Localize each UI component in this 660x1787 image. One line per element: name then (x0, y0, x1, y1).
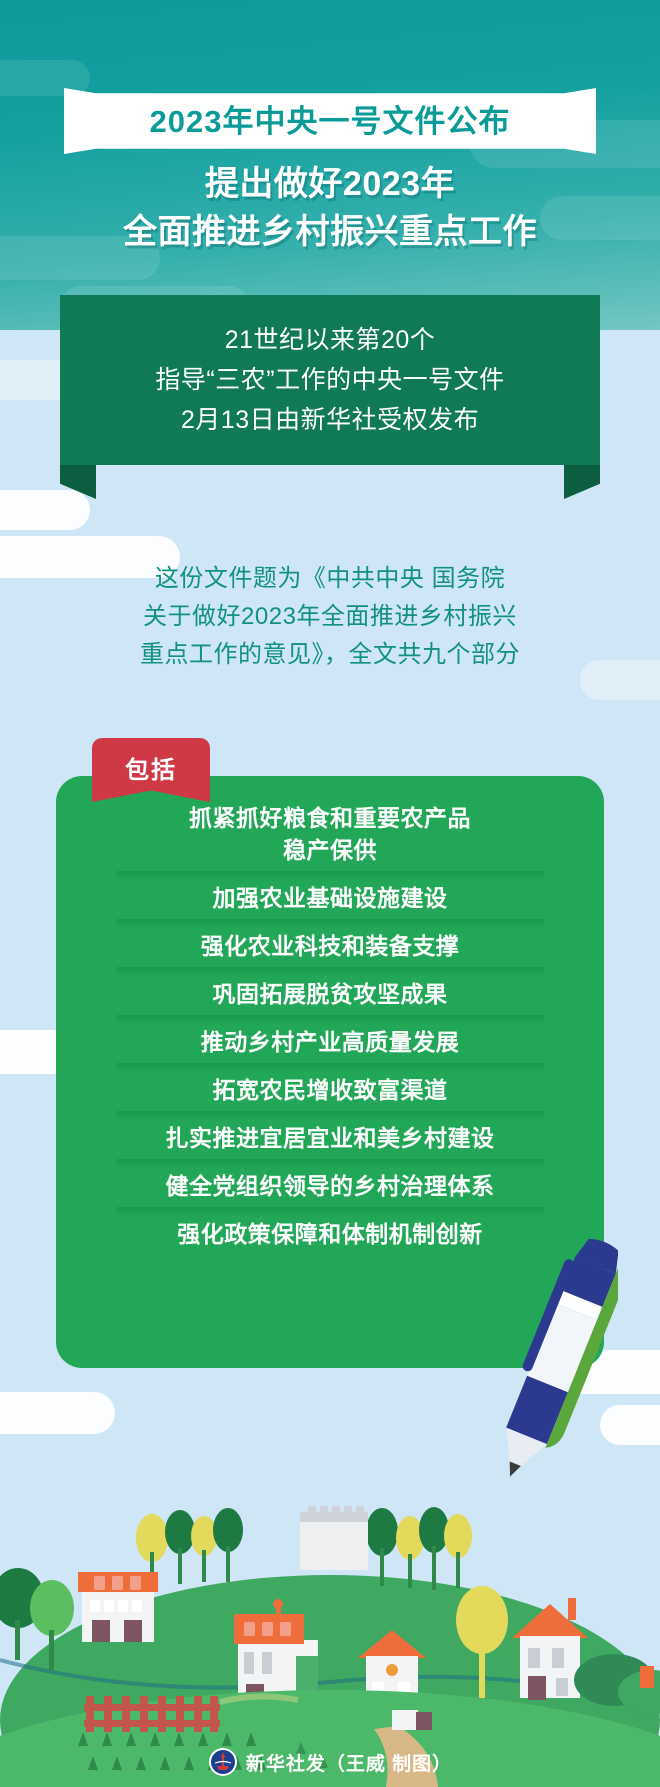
footer-credit: 新华社发（王威 制图） (0, 1747, 660, 1777)
building-white (300, 1506, 368, 1570)
xinhua-logo-icon (208, 1747, 238, 1777)
village-scene: 新华社发（王威 制图） (0, 1480, 660, 1787)
list-item: 推动乡村产业高质量发展 (74, 1018, 586, 1066)
quote-line-2: 指导“三农”工作的中央一号文件 (155, 360, 504, 400)
paragraph-line-3: 重点工作的意见》，全文共九个部分 (0, 636, 660, 674)
cloud-shape (0, 1392, 115, 1434)
list-item: 强化农业科技和装备支撑 (74, 922, 586, 970)
quote-line-1: 21世纪以来第20个 (155, 320, 504, 360)
header-banner: 2023年中央一号文件公布 (64, 88, 596, 154)
quote-ribbon: 21世纪以来第20个 指导“三农”工作的中央一号文件 2月13日由新华社受权发布 (60, 295, 600, 465)
title-line-1: 提出做好2023年 (0, 160, 660, 208)
house-left (78, 1572, 158, 1642)
include-tag-label: 包括 (125, 750, 177, 785)
paragraph-line-1: 这份文件题为《中共中央 国务院 (0, 560, 660, 598)
list-item: 拓宽农民增收致富渠道 (74, 1066, 586, 1114)
tree (456, 1586, 508, 1654)
list-item: 巩固拓展脱贫攻坚成果 (74, 970, 586, 1018)
quote-line-3: 2月13日由新华社受权发布 (155, 400, 504, 440)
title-line-2: 全面推进乡村振兴重点工作 (0, 208, 660, 256)
list-item: 加强农业基础设施建设 (74, 874, 586, 922)
intro-paragraph: 这份文件题为《中共中央 国务院 关于做好2023年全面推进乡村振兴 重点工作的意… (0, 560, 660, 674)
quote-box: 21世纪以来第20个 指导“三农”工作的中央一号文件 2月13日由新华社受权发布 (60, 295, 600, 465)
infographic-page: 2023年中央一号文件公布 提出做好2023年 全面推进乡村振兴重点工作 21世… (0, 0, 660, 1787)
quote-text: 21世纪以来第20个 指导“三农”工作的中央一号文件 2月13日由新华社受权发布 (155, 320, 504, 440)
page-title: 提出做好2023年 全面推进乡村振兴重点工作 (0, 160, 660, 256)
village-illustration (0, 1480, 660, 1787)
cloud-shape (0, 490, 90, 530)
tree (30, 1580, 74, 1636)
pen-icon (498, 1228, 618, 1488)
paragraph-line-2: 关于做好2023年全面推进乡村振兴 (0, 598, 660, 636)
credit-label: 新华社发（王威 制图） (246, 1749, 452, 1776)
list-item: 健全党组织领导的乡村治理体系 (74, 1162, 586, 1210)
banner-label: 2023年中央一号文件公布 (150, 106, 511, 137)
list-item: 扎实推进宜居宜业和美乡村建设 (74, 1114, 586, 1162)
list-item: 抓紧抓好粮食和重要农产品稳产保供 (74, 794, 586, 874)
